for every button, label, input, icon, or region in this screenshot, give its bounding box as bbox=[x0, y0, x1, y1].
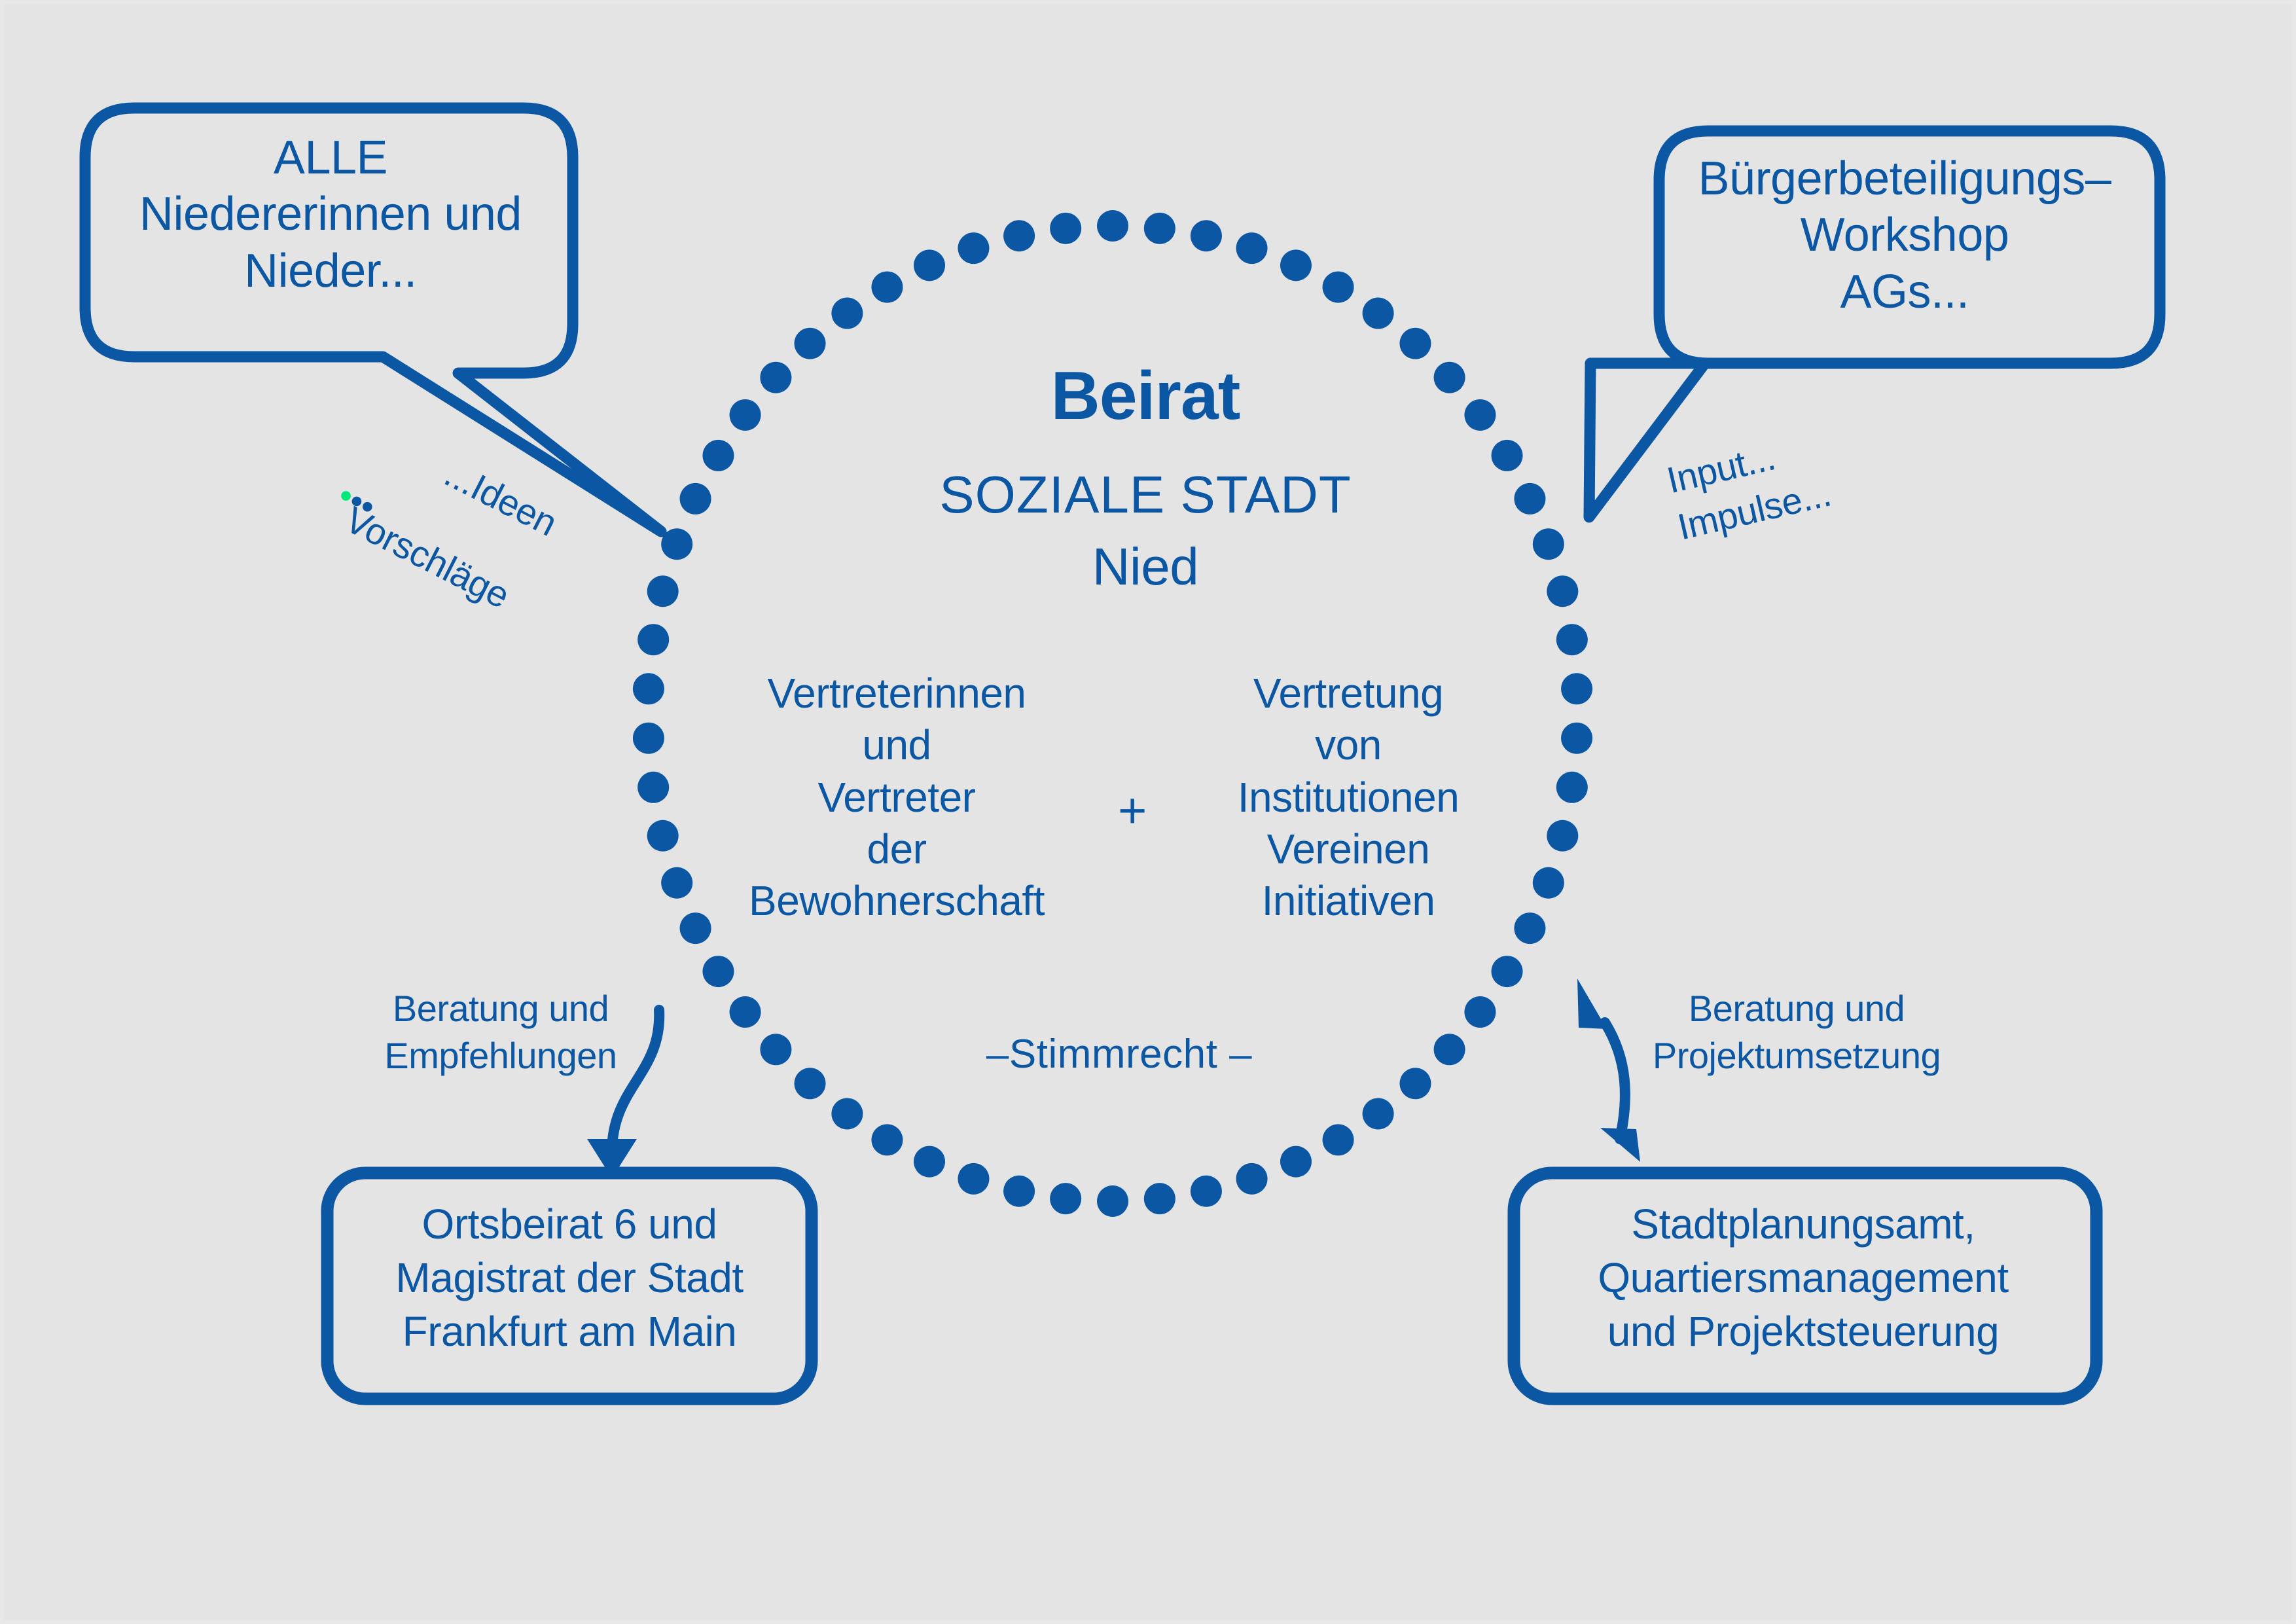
ring-dot bbox=[1399, 328, 1431, 359]
speech-bubble-right-label: Bürgerbeteiligungs– Workshop AGs... bbox=[1676, 151, 2134, 320]
ring-dot bbox=[1050, 213, 1081, 244]
ring-dot bbox=[1492, 956, 1523, 987]
ring-dot bbox=[633, 723, 664, 754]
ring-dot bbox=[795, 328, 826, 359]
ring-dot bbox=[1464, 996, 1496, 1028]
ring-dot bbox=[1533, 867, 1564, 899]
plus-icon: + bbox=[1073, 782, 1191, 840]
ring-dot bbox=[1191, 220, 1222, 251]
ring-dot bbox=[1561, 723, 1592, 754]
ring-dot bbox=[1323, 272, 1354, 303]
ring-dot bbox=[1434, 1034, 1465, 1065]
ring-dot bbox=[914, 1146, 945, 1178]
ring-dot bbox=[680, 912, 711, 944]
ring-dot bbox=[760, 362, 791, 393]
ring-dot bbox=[958, 232, 989, 264]
ring-dot bbox=[1003, 220, 1035, 251]
ring-dot bbox=[1144, 1183, 1175, 1214]
ring-dot bbox=[760, 1034, 791, 1065]
annotation-beratung-empfehlungen: Beratung und Empfehlungen bbox=[347, 985, 655, 1079]
ring-dot bbox=[914, 249, 945, 281]
ring-dot bbox=[1191, 1176, 1222, 1207]
ring-dot bbox=[1492, 440, 1523, 471]
ring-dot bbox=[1050, 1183, 1081, 1214]
ring-dot bbox=[647, 820, 679, 852]
ring-dot bbox=[1561, 673, 1592, 704]
diagram-canvas: ALLE Niedererinnen und Nieder... Bürgerb… bbox=[0, 0, 2296, 1624]
ring-dot bbox=[1236, 1163, 1268, 1195]
box-bottom-left-label: Ortsbeirat 6 und Magistrat der Stadt Fra… bbox=[340, 1198, 798, 1359]
ring-dot bbox=[1323, 1124, 1354, 1155]
ring-dot bbox=[1003, 1176, 1035, 1207]
ring-dot bbox=[795, 1068, 826, 1099]
box-bottom-right-label: Stadtplanungsamt, Quartiersmanagement un… bbox=[1522, 1198, 2085, 1359]
ring-dot bbox=[1556, 624, 1588, 655]
ring-dot bbox=[831, 298, 863, 329]
ring-dot bbox=[958, 1163, 989, 1195]
ring-dot bbox=[1556, 772, 1588, 803]
ring-dot bbox=[637, 772, 669, 803]
circle-column-right: Vertretung von Institutionen Vereinen In… bbox=[1191, 668, 1505, 928]
ring-dot bbox=[871, 272, 903, 303]
ring-dot bbox=[702, 956, 734, 987]
ring-dot bbox=[1280, 1146, 1312, 1178]
ring-dot bbox=[1547, 575, 1578, 607]
page-title: Beirat bbox=[805, 357, 1486, 436]
ring-dot bbox=[1547, 820, 1578, 852]
ring-dot bbox=[871, 1124, 903, 1155]
circle-footer-stimmrecht: –Stimmrecht – bbox=[916, 1031, 1322, 1078]
page-subtitle-line1: SOZIALE STADT bbox=[805, 465, 1486, 526]
ring-dot bbox=[1236, 232, 1268, 264]
ring-dot bbox=[1514, 483, 1545, 514]
ring-dot bbox=[1533, 528, 1564, 560]
ring-dot bbox=[702, 440, 734, 471]
ring-dot bbox=[661, 867, 692, 899]
ring-dot bbox=[633, 673, 664, 704]
ring-dot bbox=[1363, 1098, 1394, 1129]
ring-dot bbox=[1097, 210, 1128, 242]
ring-dot bbox=[831, 1098, 863, 1129]
speech-bubble-left-label: ALLE Niedererinnen und Nieder... bbox=[98, 130, 563, 299]
circle-column-left: Vertreterinnen und Vertreter der Bewohne… bbox=[713, 668, 1080, 928]
page-subtitle-line2: Nied bbox=[805, 537, 1486, 598]
ring-dot bbox=[730, 399, 761, 431]
ring-dot bbox=[637, 624, 669, 655]
ring-dot bbox=[1363, 298, 1394, 329]
ring-dot bbox=[680, 483, 711, 514]
ring-dot bbox=[730, 996, 761, 1028]
ring-dot bbox=[1514, 912, 1545, 944]
annotation-beratung-projektumsetzung: Beratung und Projektumsetzung bbox=[1626, 985, 1967, 1079]
ring-dot bbox=[1097, 1185, 1128, 1217]
ring-dot bbox=[1399, 1068, 1431, 1099]
ring-dot bbox=[647, 575, 679, 607]
ring-dot bbox=[1144, 213, 1175, 244]
ring-dot bbox=[1280, 249, 1312, 281]
